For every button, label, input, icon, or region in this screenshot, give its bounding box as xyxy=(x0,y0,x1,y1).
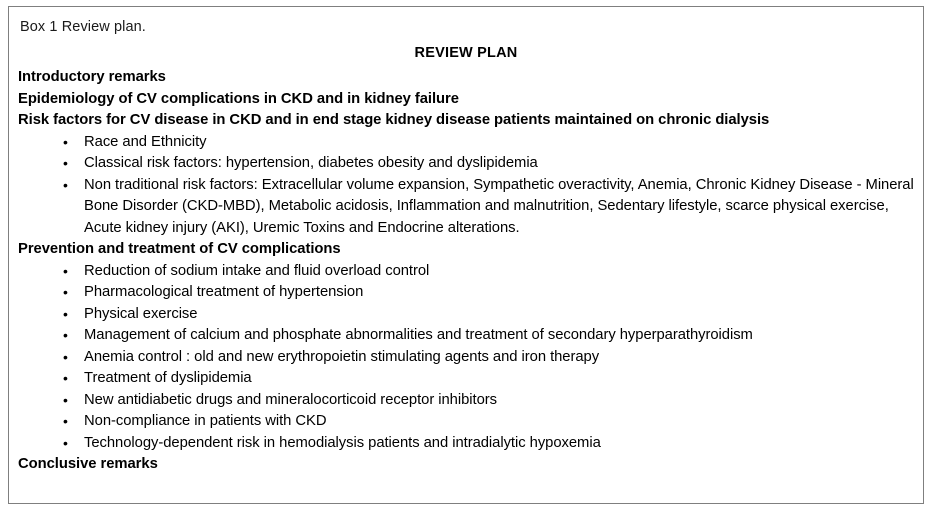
list-item-label: Technology-dependent risk in hemodialysi… xyxy=(84,435,601,451)
review-plan-content: Introductory remarksEpidemiology of CV c… xyxy=(18,67,917,476)
bullet-icon: • xyxy=(63,261,68,283)
list-item: •Technology-dependent risk in hemodialys… xyxy=(18,433,917,455)
section-bullet-list: •Reduction of sodium intake and fluid ov… xyxy=(18,261,917,455)
section-heading: Epidemiology of CV complications in CKD … xyxy=(18,89,917,111)
bullet-icon: • xyxy=(63,347,68,369)
list-item: •Reduction of sodium intake and fluid ov… xyxy=(18,261,917,283)
list-item: •Management of calcium and phosphate abn… xyxy=(18,325,917,347)
list-item-label: Physical exercise xyxy=(84,306,197,322)
list-item-label: Race and Ethnicity xyxy=(84,134,206,150)
list-item-label: Pharmacological treatment of hypertensio… xyxy=(84,284,363,300)
list-item-label: Management of calcium and phosphate abno… xyxy=(84,327,753,343)
box-caption: Box 1 Review plan. xyxy=(20,19,146,35)
list-item: •Race and Ethnicity xyxy=(18,132,917,154)
bullet-icon: • xyxy=(63,390,68,412)
list-item-label: Non traditional risk factors: Extracellu… xyxy=(84,177,914,236)
section-heading: Introductory remarks xyxy=(18,67,917,89)
section-heading: Risk factors for CV disease in CKD and i… xyxy=(18,110,917,132)
bullet-icon: • xyxy=(63,433,68,455)
list-item: •Classical risk factors: hypertension, d… xyxy=(18,153,917,175)
bullet-icon: • xyxy=(63,282,68,304)
bullet-icon: • xyxy=(63,304,68,326)
bullet-icon: • xyxy=(63,411,68,433)
bullet-icon: • xyxy=(63,175,68,197)
section-heading: Conclusive remarks xyxy=(18,454,917,476)
list-item: •Physical exercise xyxy=(18,304,917,326)
list-item: •Pharmacological treatment of hypertensi… xyxy=(18,282,917,304)
list-item-label: New antidiabetic drugs and mineralocorti… xyxy=(84,392,497,408)
page-title: REVIEW PLAN xyxy=(9,45,923,61)
bullet-icon: • xyxy=(63,368,68,390)
list-item-label: Non-compliance in patients with CKD xyxy=(84,413,327,429)
bullet-icon: • xyxy=(63,325,68,347)
review-plan-box: Box 1 Review plan. REVIEW PLAN Introduct… xyxy=(8,6,924,504)
bullet-icon: • xyxy=(63,132,68,154)
list-item: •Anemia control : old and new erythropoi… xyxy=(18,347,917,369)
list-item-label: Reduction of sodium intake and fluid ove… xyxy=(84,263,429,279)
list-item: •Treatment of dyslipidemia xyxy=(18,368,917,390)
list-item: •Non traditional risk factors: Extracell… xyxy=(18,175,917,240)
section-heading: Prevention and treatment of CV complicat… xyxy=(18,239,917,261)
list-item-label: Anemia control : old and new erythropoie… xyxy=(84,349,599,365)
section-bullet-list: •Race and Ethnicity•Classical risk facto… xyxy=(18,132,917,240)
list-item-label: Classical risk factors: hypertension, di… xyxy=(84,155,538,171)
list-item: •Non-compliance in patients with CKD xyxy=(18,411,917,433)
bullet-icon: • xyxy=(63,153,68,175)
list-item-label: Treatment of dyslipidemia xyxy=(84,370,252,386)
list-item: •New antidiabetic drugs and mineralocort… xyxy=(18,390,917,412)
